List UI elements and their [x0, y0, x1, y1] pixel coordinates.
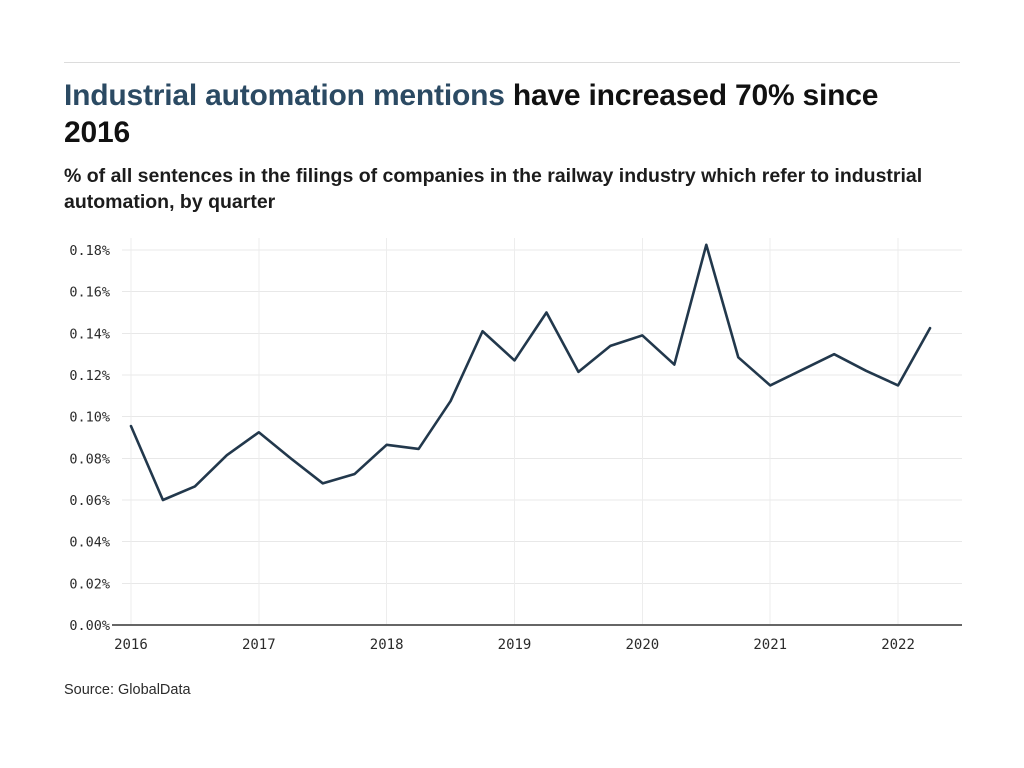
y-axis-tick-label: 0.18% [69, 243, 110, 259]
x-axis-tick-label: 2022 [881, 637, 915, 653]
x-axis-tick-label: 2017 [242, 637, 276, 653]
vertical-gridlines [131, 238, 898, 625]
source-note: Source: GlobalData [64, 682, 191, 698]
x-axis-tick-label: 2021 [753, 637, 787, 653]
x-axis-tick-labels: 2016201720182019202020212022 [114, 637, 915, 653]
y-axis-tick-label: 0.04% [69, 535, 110, 551]
y-axis-tick-label: 0.08% [69, 451, 110, 467]
y-axis-tick-labels: 0.00%0.02%0.04%0.06%0.08%0.10%0.12%0.14%… [69, 243, 110, 634]
chart-page: Industrial automation mentions have incr… [0, 0, 1024, 768]
y-axis-tick-label: 0.06% [69, 493, 110, 509]
chart-subtitle: % of all sentences in the filings of com… [64, 164, 954, 216]
chart-title-highlight: Industrial automation mentions [64, 79, 505, 112]
header-divider [64, 62, 960, 63]
y-axis-tick-label: 0.02% [69, 576, 110, 592]
y-axis-tick-label: 0.14% [69, 326, 110, 342]
x-axis-tick-label: 2016 [114, 637, 148, 653]
data-series-line [131, 245, 930, 500]
y-axis-tick-label: 0.10% [69, 410, 110, 426]
x-axis-tick-label: 2019 [498, 637, 532, 653]
y-axis-tick-label: 0.16% [69, 285, 110, 301]
y-axis-tick-label: 0.00% [69, 618, 110, 634]
y-axis-tick-label: 0.12% [69, 368, 110, 384]
horizontal-gridlines [122, 250, 962, 583]
x-axis-tick-label: 2020 [626, 637, 660, 653]
chart-title: Industrial automation mentions have incr… [64, 78, 944, 151]
x-axis-tick-label: 2018 [370, 637, 404, 653]
